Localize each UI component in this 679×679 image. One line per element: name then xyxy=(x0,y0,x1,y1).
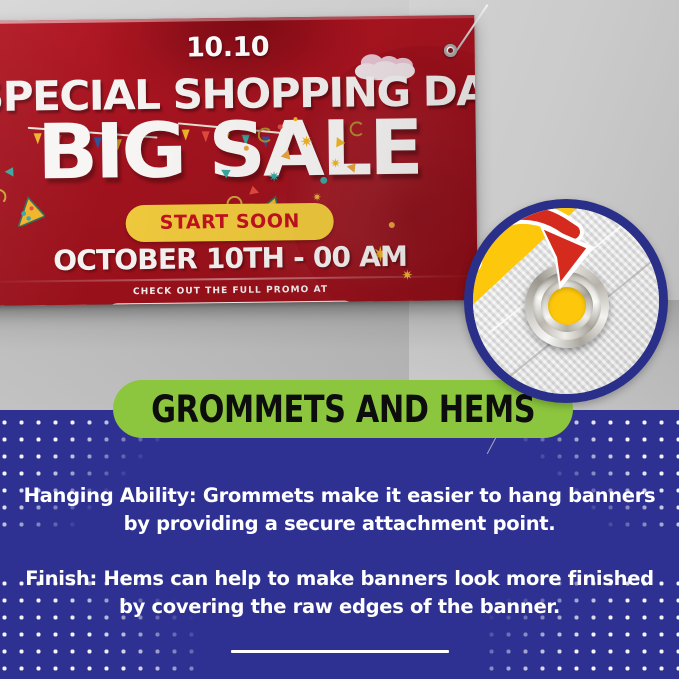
paragraph-line: Hanging Ability: Grommets make it easier… xyxy=(0,482,679,510)
banner-date-badge: 10.10 xyxy=(0,29,475,66)
grommet-detail-callout xyxy=(464,199,668,403)
banner-corner-grommet-icon xyxy=(444,44,457,57)
description-section: Hanging Ability: Grommets make it easier… xyxy=(0,410,679,679)
paragraph-finish: Finish: Hems can help to make banners lo… xyxy=(0,565,679,620)
paragraph-hanging-ability: Hanging Ability: Grommets make it easier… xyxy=(0,482,679,537)
party-hat-icon-left xyxy=(10,196,44,226)
bottom-rule xyxy=(231,650,449,653)
paragraph-line: by providing a secure attachment point. xyxy=(0,510,679,538)
paragraph-line: by covering the raw edges of the banner. xyxy=(0,593,679,621)
banner-headline-2: BIG SALE xyxy=(0,111,478,190)
poster-root: 10.10 SPECIAL SHOPPING DAY BIG SALE ✷ ✷ … xyxy=(0,0,679,679)
curved-arrow-icon xyxy=(469,199,619,328)
banner-event-time: OCTOBER 10TH - 00 AM xyxy=(0,239,477,278)
banner-cta-button[interactable]: START SOON xyxy=(125,203,334,243)
vinyl-banner: 10.10 SPECIAL SHOPPING DAY BIG SALE ✷ ✷ … xyxy=(0,15,478,306)
paragraph-line: Finish: Hems can help to make banners lo… xyxy=(0,565,679,593)
